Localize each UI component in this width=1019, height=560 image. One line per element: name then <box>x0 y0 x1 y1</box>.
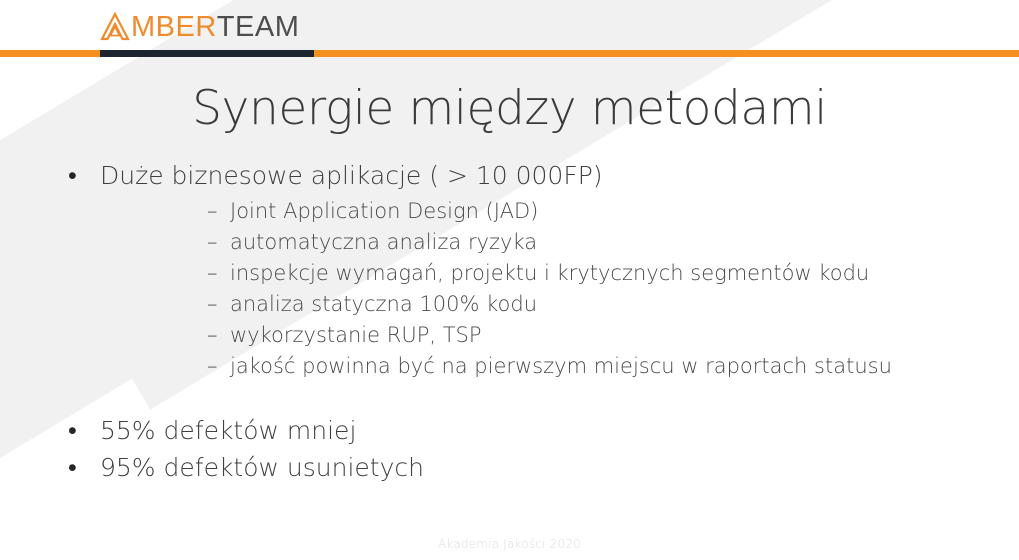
dash-marker-icon: – <box>207 289 218 320</box>
triangle-a-icon <box>100 12 130 41</box>
logo-text-amber: MBER <box>131 13 217 42</box>
list-item: – analiza statyczna 100% kodu <box>100 289 1019 320</box>
list-item: – Joint Application Design (JAD) <box>100 196 1019 227</box>
list-item-label: jakość powinna być na pierwszym miejscu … <box>230 354 892 378</box>
list-item-label: 55% defektów mniej <box>100 416 356 445</box>
list-spacer <box>0 382 1019 412</box>
bullet-list-level1: • Duże biznesowe aplikacje ( > 10 000FP)… <box>0 160 1019 486</box>
list-item: • 55% defektów mniej <box>0 412 1019 449</box>
list-item: – automatyczna analiza ryzyka <box>100 227 1019 258</box>
slide-canvas: MBER TEAM Synergie między metodami • Duż… <box>0 0 1019 560</box>
list-item-label: Joint Application Design (JAD) <box>230 199 538 223</box>
bullet-list-level2: – Joint Application Design (JAD) – autom… <box>100 196 1019 382</box>
list-item-label: analiza statyczna 100% kodu <box>230 292 537 316</box>
bullet-marker-icon: • <box>68 160 82 192</box>
list-item: – jakość powinna być na pierwszym miejsc… <box>100 351 1019 382</box>
list-item-label: Duże biznesowe aplikacje ( > 10 000FP) <box>100 161 603 190</box>
bullet-marker-icon: • <box>68 449 82 486</box>
dash-marker-icon: – <box>207 227 218 258</box>
dash-marker-icon: – <box>207 196 218 227</box>
logo-text-team: TEAM <box>217 13 300 42</box>
slide-footer: Akademia Jakości 2020 <box>0 537 1019 551</box>
header-rule-accent <box>100 50 314 57</box>
page-title: Synergie między metodami <box>0 84 1019 133</box>
list-item-label: inspekcje wymagań, projektu i krytycznyc… <box>230 261 869 285</box>
list-item-label: wykorzystanie RUP, TSP <box>230 323 482 347</box>
dash-marker-icon: – <box>207 351 218 382</box>
slide-body: • Duże biznesowe aplikacje ( > 10 000FP)… <box>0 160 1019 486</box>
list-item-label: automatyczna analiza ryzyka <box>230 230 537 254</box>
dash-marker-icon: – <box>207 258 218 289</box>
list-item-label: 95% defektów usunietych <box>100 453 424 482</box>
amberteam-logo: MBER TEAM <box>100 7 299 45</box>
list-item: • Duże biznesowe aplikacje ( > 10 000FP)… <box>0 160 1019 382</box>
dash-marker-icon: – <box>207 320 218 351</box>
list-item: – inspekcje wymagań, projektu i krytyczn… <box>100 258 1019 289</box>
bullet-marker-icon: • <box>68 412 82 449</box>
list-item: – wykorzystanie RUP, TSP <box>100 320 1019 351</box>
list-item: • 95% defektów usunietych <box>0 449 1019 486</box>
